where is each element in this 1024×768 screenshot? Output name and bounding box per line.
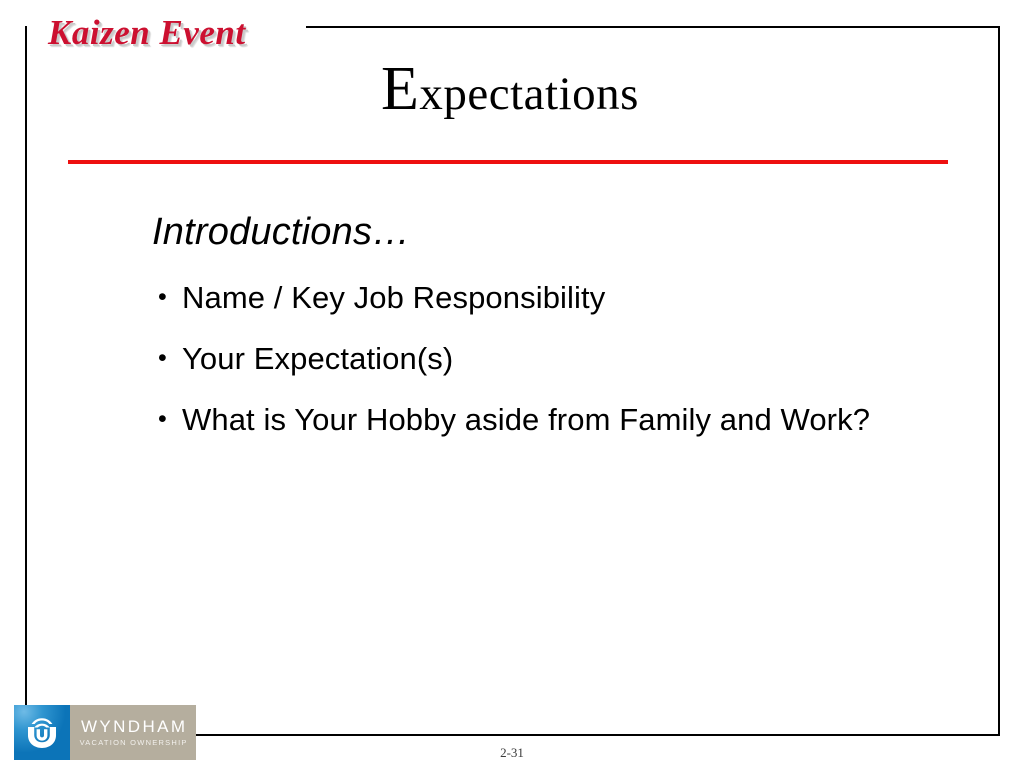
wyndham-tagline: VACATION OWNERSHIP — [78, 737, 187, 748]
frame-border-left — [25, 26, 27, 736]
list-item-text: What is Your Hobby aside from Family and… — [182, 400, 942, 439]
bullet-point-icon: • — [158, 339, 167, 378]
wyndham-wordmark: WYNDHAM VACATION OWNERSHIP — [70, 705, 196, 760]
frame-border-bottom — [196, 734, 1000, 736]
page-title-initial: E — [381, 55, 419, 123]
page-title-rest: xpectations — [419, 68, 639, 120]
body-subheading: Introductions… — [152, 208, 942, 256]
frame-border-right — [998, 26, 1000, 736]
bullet-point-icon: • — [158, 400, 167, 439]
frame-border-top — [306, 26, 1000, 28]
slide-body: Introductions… • Name / Key Job Responsi… — [152, 208, 942, 439]
kaizen-event-banner: Kaizen Event — [40, 12, 254, 54]
list-item: • Name / Key Job Responsibility — [152, 278, 942, 317]
kaizen-event-label: Kaizen Event — [48, 12, 246, 54]
list-item-text: Name / Key Job Responsibility — [182, 278, 942, 317]
page-title: Expectations — [60, 58, 960, 125]
bullet-point-icon: • — [158, 278, 167, 317]
list-item: • What is Your Hobby aside from Family a… — [152, 400, 942, 439]
wyndham-w-mark-icon — [14, 705, 70, 760]
list-item: • Your Expectation(s) — [152, 339, 942, 378]
slide-canvas: Kaizen Event Expectations Introductions…… — [0, 0, 1024, 768]
bullet-list: • Name / Key Job Responsibility • Your E… — [152, 278, 942, 439]
wyndham-logo: WYNDHAM VACATION OWNERSHIP — [14, 705, 196, 760]
list-item-text: Your Expectation(s) — [182, 339, 942, 378]
title-divider-rule — [68, 160, 948, 164]
wyndham-brand-name: WYNDHAM — [79, 717, 188, 736]
page-title-text: Expectations — [381, 68, 639, 120]
